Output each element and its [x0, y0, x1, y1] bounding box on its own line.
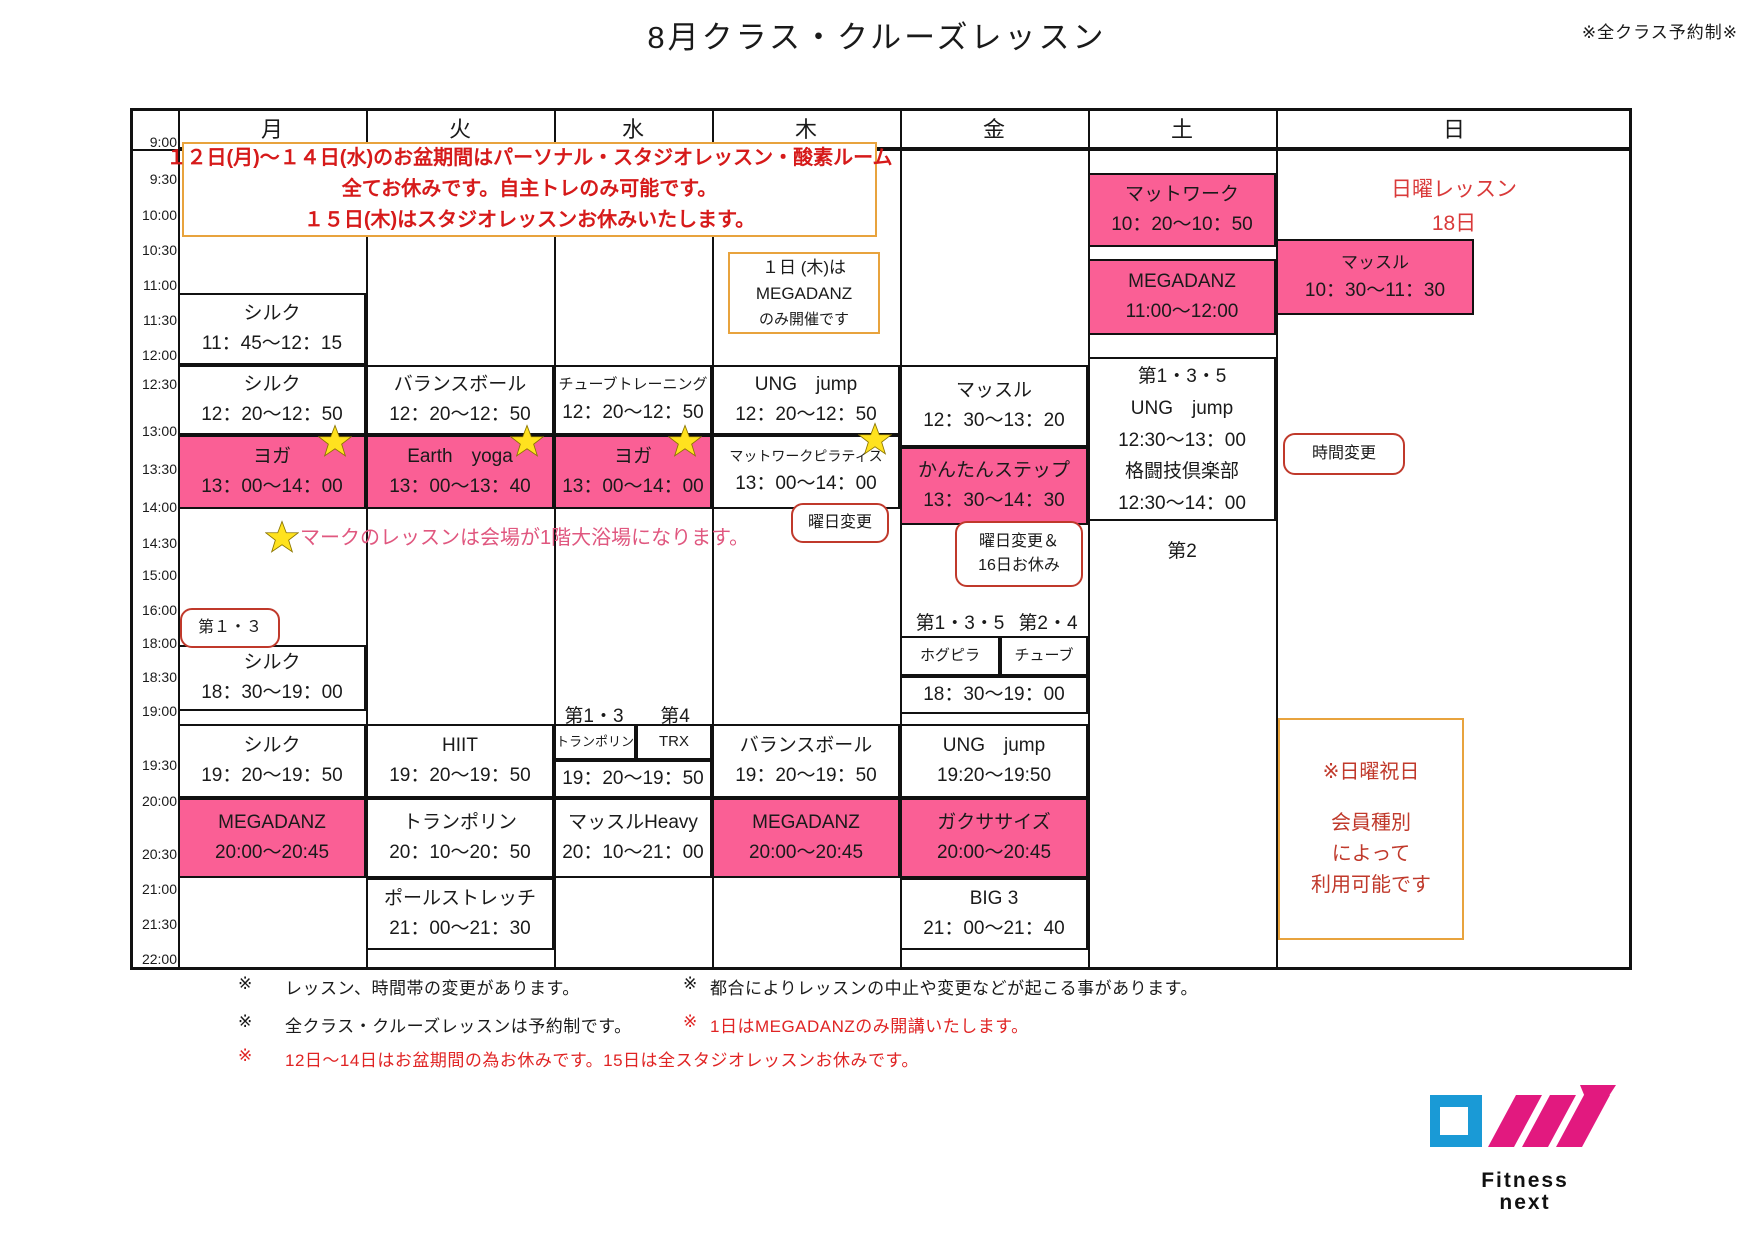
time-label: 20:00 [133, 793, 177, 809]
day-header-fri: 金 [900, 111, 1088, 149]
class-time: 11:00〜12:00 [1126, 300, 1239, 324]
class-name: ポールストレッチ [384, 887, 536, 911]
footer-note-2: 都合によりレッスンの中止や変更などが起こる事があります。 [710, 974, 1198, 999]
class-time: 19:20〜19:50 [937, 764, 1051, 788]
obon-line3: １５日(木)はスタジオレッスンお休みいたします。 [304, 205, 755, 236]
class-time: 12:30〜13：00 [1118, 429, 1246, 453]
page-title: 8月クラス・クルーズレッスン [0, 12, 1754, 57]
footer-note-mark: ※ [683, 1012, 698, 1032]
sunday-lesson-line1: 日曜レッスン [1391, 178, 1517, 201]
obon-notice: １２日(月)〜１４日(水)のお盆期間はパーソナル・スタジオレッスン・酸素ルーム … [182, 142, 877, 237]
sunday-holiday-line3: によって [1332, 839, 1410, 870]
time-label: 18:00 [133, 635, 177, 651]
time-label: 21:30 [133, 916, 177, 932]
logo-mark [1430, 1085, 1630, 1175]
class-cell-wed-trx[interactable]: TRX [636, 724, 712, 760]
class-name: BIG 3 [970, 887, 1019, 911]
star-venue-note: マークのレッスンは会場が1階大浴場になります。 [300, 521, 749, 550]
class-time: 18：30〜19：00 [201, 681, 343, 705]
class-time: 19：20〜19：50 [389, 764, 531, 788]
class-cell-sat-block[interactable]: 第1・3・5 UNG jump 12:30〜13：00 格闘技倶楽部 12:30… [1088, 357, 1276, 521]
class-time: 11：45〜12：15 [202, 332, 342, 356]
time-label: 16:00 [133, 602, 177, 618]
class-name: シルク [243, 734, 300, 758]
class-name: HIIT [442, 734, 478, 758]
class-name: Earth yoga [407, 445, 513, 469]
class-time: 20:00〜20:45 [215, 841, 329, 865]
star-icon [858, 422, 892, 456]
class-name: ヨガ [614, 445, 652, 469]
sunday-lesson-line2: 18日 [1432, 212, 1476, 235]
class-cell-sun-muscle[interactable]: マッスル 10：30〜11：30 [1276, 239, 1474, 315]
class-cell-fri-hogpira[interactable]: ホグピラ [900, 636, 1000, 676]
week-label-sat-2: 第2 [1088, 536, 1276, 563]
footer-note-mark: ※ [238, 974, 253, 994]
class-name: UNG jump [1131, 397, 1233, 421]
class-time: 20:00〜20:45 [749, 841, 863, 865]
class-cell-mon-silk-1145[interactable]: シルク 11：45〜12：15 [178, 293, 366, 365]
week-label-fri-1-3-5: 第1・3・5 [900, 608, 1020, 635]
time-label: 13:00 [133, 423, 177, 439]
time-label: 11:30 [133, 312, 177, 328]
time-label: 19:30 [133, 757, 177, 773]
class-name: マッスル [1341, 252, 1409, 273]
time-label: 14:00 [133, 499, 177, 515]
class-time: 20：10〜20：50 [389, 841, 531, 865]
class-time-2: 12:30〜14：00 [1118, 492, 1246, 516]
sunday-lesson-label: 日曜レッスン 18日 [1276, 173, 1632, 240]
class-time: 18：30〜19：00 [923, 683, 1065, 707]
class-name: バランスボール [394, 373, 527, 397]
class-name: シルク [243, 373, 300, 397]
time-label: 13:30 [133, 461, 177, 477]
sunday-holiday-line4: 利用可能です [1311, 870, 1431, 901]
class-time: 12：30〜13：20 [923, 409, 1065, 433]
class-name: UNG jump [755, 373, 857, 397]
callout-text: 時間変更 [1312, 442, 1376, 466]
week-label-sat-1-3-5: 第1・3・5 [1138, 365, 1227, 389]
class-name: チューブトレーニング [558, 376, 707, 395]
class-cell-fri-ungjump[interactable]: UNG jump 19:20〜19:50 [900, 724, 1088, 798]
class-name: トランポリン [403, 811, 517, 835]
class-time: 13：00〜14：00 [201, 475, 343, 499]
class-cell-wed-trampoline[interactable]: トランポリン [554, 724, 636, 760]
class-cell-sat-matwork[interactable]: マットワーク 10：20〜10：50 [1088, 173, 1276, 247]
time-label: 12:30 [133, 376, 177, 392]
logo-text-line1: Fitness [1430, 1169, 1620, 1193]
class-time: 10：30〜11：30 [1305, 279, 1445, 303]
class-cell-tue-trampoline[interactable]: トランポリン 20：10〜20：50 [366, 798, 554, 878]
class-time: 12：20〜12：50 [735, 403, 877, 427]
class-time: 20：10〜21：00 [562, 841, 704, 865]
time-label: 20:30 [133, 846, 177, 862]
class-name-2: 格闘技倶楽部 [1125, 460, 1239, 484]
class-name: チューブ [1014, 647, 1073, 666]
time-label: 12:00 [133, 347, 177, 363]
sunday-holiday-line1: ※日曜祝日 [1323, 757, 1420, 788]
time-label: 10:30 [133, 242, 177, 258]
class-time: 10：20〜10：50 [1111, 213, 1253, 237]
class-time: 19：20〜19：50 [735, 764, 877, 788]
class-name: MEGADANZ [1128, 270, 1236, 294]
class-time: 13：00〜13：40 [389, 475, 531, 499]
time-label: 21:00 [133, 881, 177, 897]
class-time: 19：20〜19：50 [201, 764, 343, 788]
class-cell-fri-big3[interactable]: BIG 3 21：00〜21：40 [900, 878, 1088, 950]
aug1-line3: のみ開催です [759, 308, 849, 331]
aug1-line1: １日 (木)は [762, 255, 846, 281]
class-name: シルク [243, 651, 300, 675]
callout-text: 曜日変更 [808, 511, 872, 535]
class-cell-sat-megadanz[interactable]: MEGADANZ 11:00〜12:00 [1088, 259, 1276, 335]
obon-line2: 全てお休みです。自主トレのみ可能です。 [342, 174, 717, 205]
schedule-page: 8月クラス・クルーズレッスン ※全クラス予約制※ 月 火 水 木 金 土 日 9… [0, 0, 1754, 1240]
class-time: 21：00〜21：30 [389, 917, 531, 941]
footer-note-1: レッスン、時間帯の変更があります。 [285, 974, 580, 999]
class-name: MEGADANZ [752, 811, 860, 835]
footer-note-4: 1日はMEGADANZのみ開講いたします。 [710, 1012, 1029, 1037]
class-name: マットワーク [1125, 183, 1239, 207]
footer-note-mark: ※ [683, 974, 698, 994]
class-cell-fri-tube[interactable]: チューブ [1000, 636, 1088, 676]
day-header-sun: 日 [1276, 111, 1632, 149]
class-name: シルク [243, 302, 300, 326]
class-cell-fri-muscle[interactable]: マッスル 12：30〜13：20 [900, 365, 1088, 447]
sunday-holiday-line2: 会員種別 [1331, 808, 1411, 839]
class-name: TRX [659, 733, 689, 752]
callout-text: 第１・３ [198, 616, 262, 640]
class-name: ホグピラ [920, 647, 980, 666]
class-name: バランスボール [740, 734, 873, 758]
reservation-note: ※全クラス予約制※ [1582, 18, 1738, 43]
class-cell-fri-gakusasize[interactable]: ガクササイズ 20:00〜20:45 [900, 798, 1088, 878]
class-name: ガクササイズ [937, 811, 1050, 835]
class-time: 13：00〜14：00 [562, 475, 704, 499]
fitness-next-logo: Fitness next [1430, 1085, 1640, 1210]
class-name: かんたんステップ [918, 459, 1070, 483]
class-cell-mon-megadanz[interactable]: MEGADANZ 20:00〜20:45 [178, 798, 366, 878]
class-time: 19：20〜19：50 [562, 767, 704, 791]
logo-text-line2: next [1430, 1191, 1620, 1215]
aug1-line2: MEGADANZ [756, 281, 852, 307]
footer-note-5: 12日〜14日はお盆期間の為お休みです。15日は全スタジオレッスンお休みです。 [285, 1046, 919, 1071]
callout-youbi-henkou-16: 曜日変更＆ 16日お休み [955, 521, 1083, 587]
class-cell-wed-muscleheavy[interactable]: マッスルHeavy 20：10〜21：00 [554, 798, 712, 878]
class-time: 13：30〜14：30 [923, 489, 1065, 513]
obon-line1: １２日(月)〜１４日(水)のお盆期間はパーソナル・スタジオレッスン・酸素ルーム [166, 143, 892, 174]
footer-note-mark: ※ [238, 1012, 253, 1032]
day-header-sat: 土 [1088, 111, 1276, 149]
class-cell-tue-hiit[interactable]: HIIT 19：20〜19：50 [366, 724, 554, 798]
time-label: 14:30 [133, 535, 177, 551]
class-name: マッスルHeavy [568, 811, 698, 835]
callout-line1: 曜日変更＆ [979, 530, 1059, 554]
class-cell-fri-1830-time[interactable]: 18：30〜19：00 [900, 676, 1088, 714]
class-cell-thu-balanceball[interactable]: バランスボール 19：20〜19：50 [712, 724, 900, 798]
star-icon [510, 424, 544, 458]
time-label: 10:00 [133, 207, 177, 223]
callout-youbi-henkou: 曜日変更 [791, 503, 889, 543]
footer-note-mark: ※ [238, 1046, 253, 1066]
aug1-notice: １日 (木)は MEGADANZ のみ開催です [728, 252, 880, 334]
class-cell-fri-kantanstep[interactable]: かんたんステップ 13：30〜14：30 [900, 447, 1088, 525]
class-name: MEGADANZ [218, 811, 326, 835]
time-label: 15:00 [133, 567, 177, 583]
class-cell-mon-silk-1830[interactable]: シルク 18：30〜19：00 [178, 645, 366, 711]
class-time: 13：00〜14：00 [735, 472, 877, 496]
time-label: 22:00 [133, 951, 177, 967]
class-name: トランポリン [556, 734, 634, 750]
class-time: 21：00〜21：40 [923, 917, 1065, 941]
class-cell-mon-silk-1920[interactable]: シルク 19：20〜19：50 [178, 724, 366, 798]
footer-note-3: 全クラス・クルーズレッスンは予約制です。 [285, 1012, 632, 1037]
class-cell-thu-megadanz[interactable]: MEGADANZ 20:00〜20:45 [712, 798, 900, 878]
class-time: 12：20〜12：50 [562, 401, 704, 425]
time-label: 19:00 [133, 703, 177, 719]
callout-jikan-henkou: 時間変更 [1283, 433, 1405, 475]
week-label-fri-2-4: 第2・4 [1008, 608, 1088, 635]
class-name: UNG jump [943, 734, 1045, 758]
class-time: 20:00〜20:45 [937, 841, 1051, 865]
star-icon [318, 424, 352, 458]
class-name: ヨガ [253, 445, 291, 469]
time-label: 11:00 [133, 277, 177, 293]
callout-dai-1-3: 第１・３ [180, 608, 280, 648]
star-icon [668, 424, 702, 458]
callout-line2: 16日お休み [978, 554, 1060, 578]
sunday-holiday-notice: ※日曜祝日 会員種別 によって 利用可能です [1278, 718, 1464, 940]
star-icon [265, 520, 299, 554]
class-name: マッスル [956, 379, 1032, 403]
class-cell-tue-polestretch[interactable]: ポールストレッチ 21：00〜21：30 [366, 878, 554, 950]
time-label: 18:30 [133, 669, 177, 685]
class-cell-wed-trampoline-time[interactable]: 19：20〜19：50 [554, 760, 712, 798]
